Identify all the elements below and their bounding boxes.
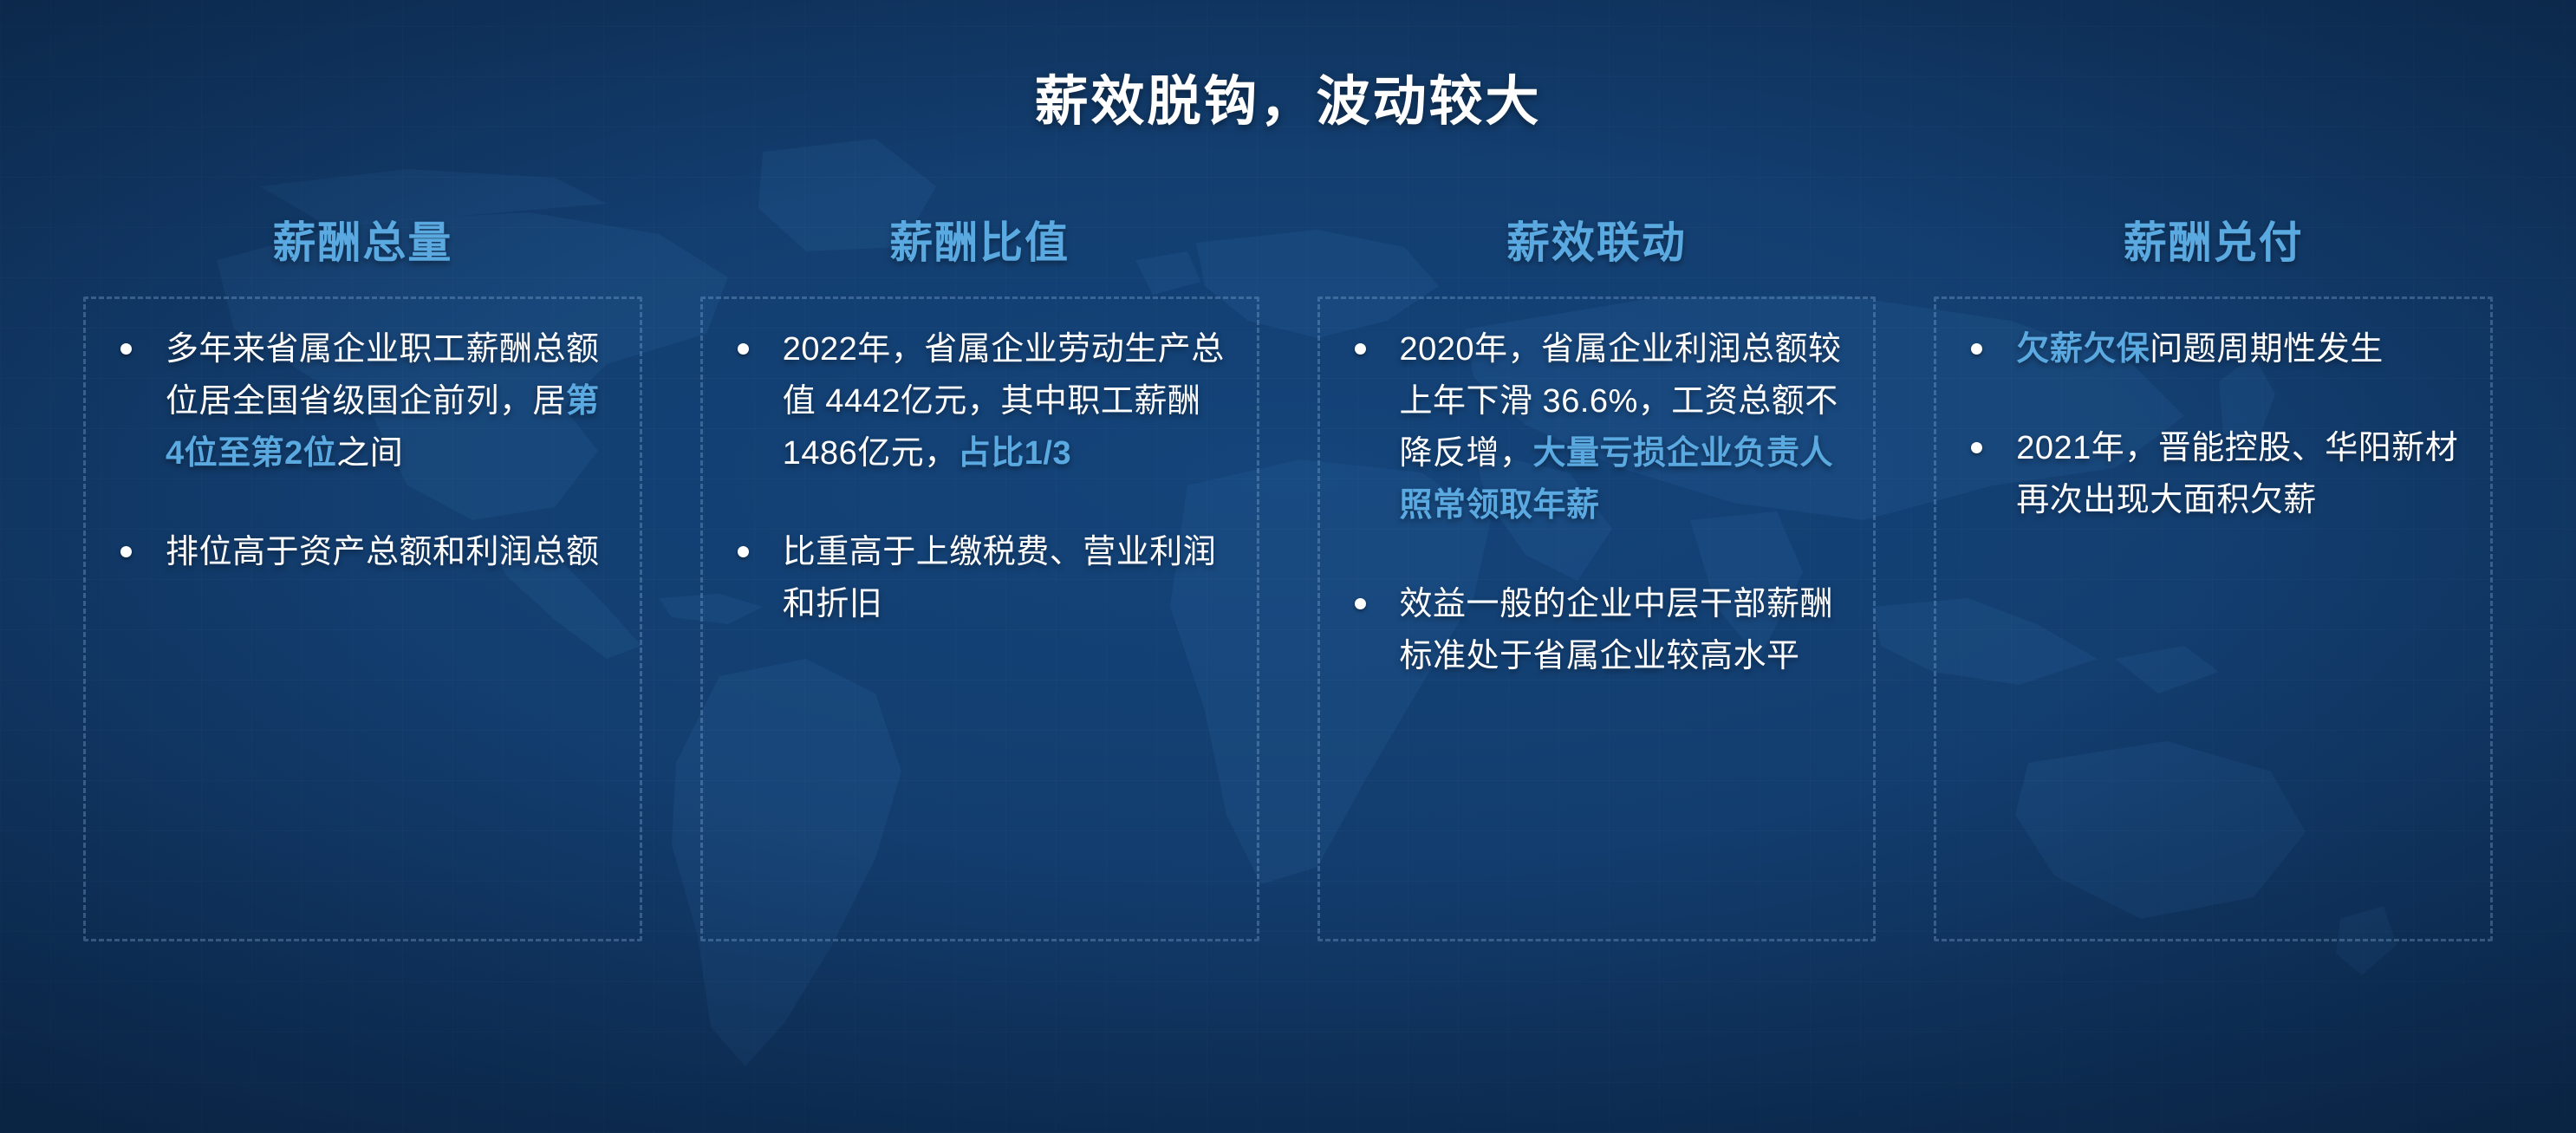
list-item: 2020年，省属企业利润总额较上年下滑 36.6%，工资总额不降反增，大量亏损企… (1343, 323, 1851, 531)
column-salary-ratio: 薪酬比值 2022年，省属企业劳动生产总值 4442亿元，其中职工薪酬1486亿… (700, 218, 1259, 941)
bullet-text: 2022年，省属企业劳动生产总值 4442亿元，其中职工薪酬1486亿元，占比1… (783, 331, 1225, 472)
highlight-text: 欠薪欠保 (2016, 331, 2150, 368)
column-salary-payment: 薪酬兑付 欠薪欠保问题周期性发生 2021年，晋能控股、华阳新材再次出现大面积欠… (1934, 218, 2493, 941)
bullet-dot-icon (1971, 442, 1982, 453)
highlight-text: 占比1/3 (958, 435, 1071, 472)
bullet-dot-icon (120, 546, 132, 557)
bullet-list: 多年来省属企业职工薪酬总额位居全国省级国企前列，居第4位至第2位之间 排位高于资… (108, 323, 617, 578)
bullet-list: 2022年，省属企业劳动生产总值 4442亿元，其中职工薪酬1486亿元，占比1… (725, 323, 1234, 630)
slide-canvas: 薪效脱钩，波动较大 薪酬总量 多年来省属企业职工薪酬总额位居全国省级国企前列，居… (0, 0, 2576, 1133)
column-pay-performance-link: 薪效联动 2020年，省属企业利润总额较上年下滑 36.6%，工资总额不降反增，… (1317, 218, 1877, 941)
page-title: 薪效脱钩，波动较大 (0, 57, 2576, 135)
bullet-text: 效益一般的企业中层干部薪酬标准处于省属企业较高水平 (1400, 586, 1834, 674)
column-box: 欠薪欠保问题周期性发生 2021年，晋能控股、华阳新材再次出现大面积欠薪 (1934, 296, 2493, 941)
column-box: 2020年，省属企业利润总额较上年下滑 36.6%，工资总额不降反增，大量亏损企… (1317, 296, 1877, 941)
column-box: 2022年，省属企业劳动生产总值 4442亿元，其中职工薪酬1486亿元，占比1… (700, 296, 1259, 941)
bullet-dot-icon (738, 546, 749, 557)
bullet-text: 欠薪欠保问题周期性发生 (2016, 331, 2384, 368)
list-item: 2021年，晋能控股、华阳新材再次出现大面积欠薪 (1959, 422, 2468, 526)
bullet-dot-icon (120, 343, 132, 355)
list-item: 效益一般的企业中层干部薪酬标准处于省属企业较高水平 (1343, 578, 1851, 682)
content-columns: 薪酬总量 多年来省属企业职工薪酬总额位居全国省级国企前列，居第4位至第2位之间 … (83, 218, 2493, 941)
list-item: 多年来省属企业职工薪酬总额位居全国省级国企前列，居第4位至第2位之间 (108, 323, 617, 479)
column-heading: 薪效联动 (1317, 218, 1877, 269)
column-heading: 薪酬比值 (700, 218, 1259, 269)
bullet-dot-icon (738, 343, 749, 355)
bullet-text: 多年来省属企业职工薪酬总额位居全国省级国企前列，居第4位至第2位之间 (166, 331, 600, 472)
bullet-dot-icon (1355, 343, 1366, 355)
bullet-text: 2021年，晋能控股、华阳新材再次出现大面积欠薪 (2016, 430, 2458, 518)
bullet-dot-icon (1971, 343, 1982, 355)
list-item: 欠薪欠保问题周期性发生 (1959, 323, 2468, 375)
list-item: 排位高于资产总额和利润总额 (108, 526, 617, 578)
bullet-text: 2020年，省属企业利润总额较上年下滑 36.6%，工资总额不降反增，大量亏损企… (1400, 331, 1842, 524)
bullet-text: 排位高于资产总额和利润总额 (166, 534, 600, 570)
list-item: 比重高于上缴税费、营业利润和折旧 (725, 526, 1234, 630)
bullet-dot-icon (1355, 598, 1366, 609)
bullet-text: 比重高于上缴税费、营业利润和折旧 (783, 534, 1217, 622)
column-heading: 薪酬总量 (83, 218, 642, 269)
column-salary-total: 薪酬总量 多年来省属企业职工薪酬总额位居全国省级国企前列，居第4位至第2位之间 … (83, 218, 642, 941)
column-heading: 薪酬兑付 (1934, 218, 2493, 269)
bullet-list: 2020年，省属企业利润总额较上年下滑 36.6%，工资总额不降反增，大量亏损企… (1343, 323, 1851, 682)
bullet-list: 欠薪欠保问题周期性发生 2021年，晋能控股、华阳新材再次出现大面积欠薪 (1959, 323, 2468, 526)
column-box: 多年来省属企业职工薪酬总额位居全国省级国企前列，居第4位至第2位之间 排位高于资… (83, 296, 642, 941)
list-item: 2022年，省属企业劳动生产总值 4442亿元，其中职工薪酬1486亿元，占比1… (725, 323, 1234, 479)
